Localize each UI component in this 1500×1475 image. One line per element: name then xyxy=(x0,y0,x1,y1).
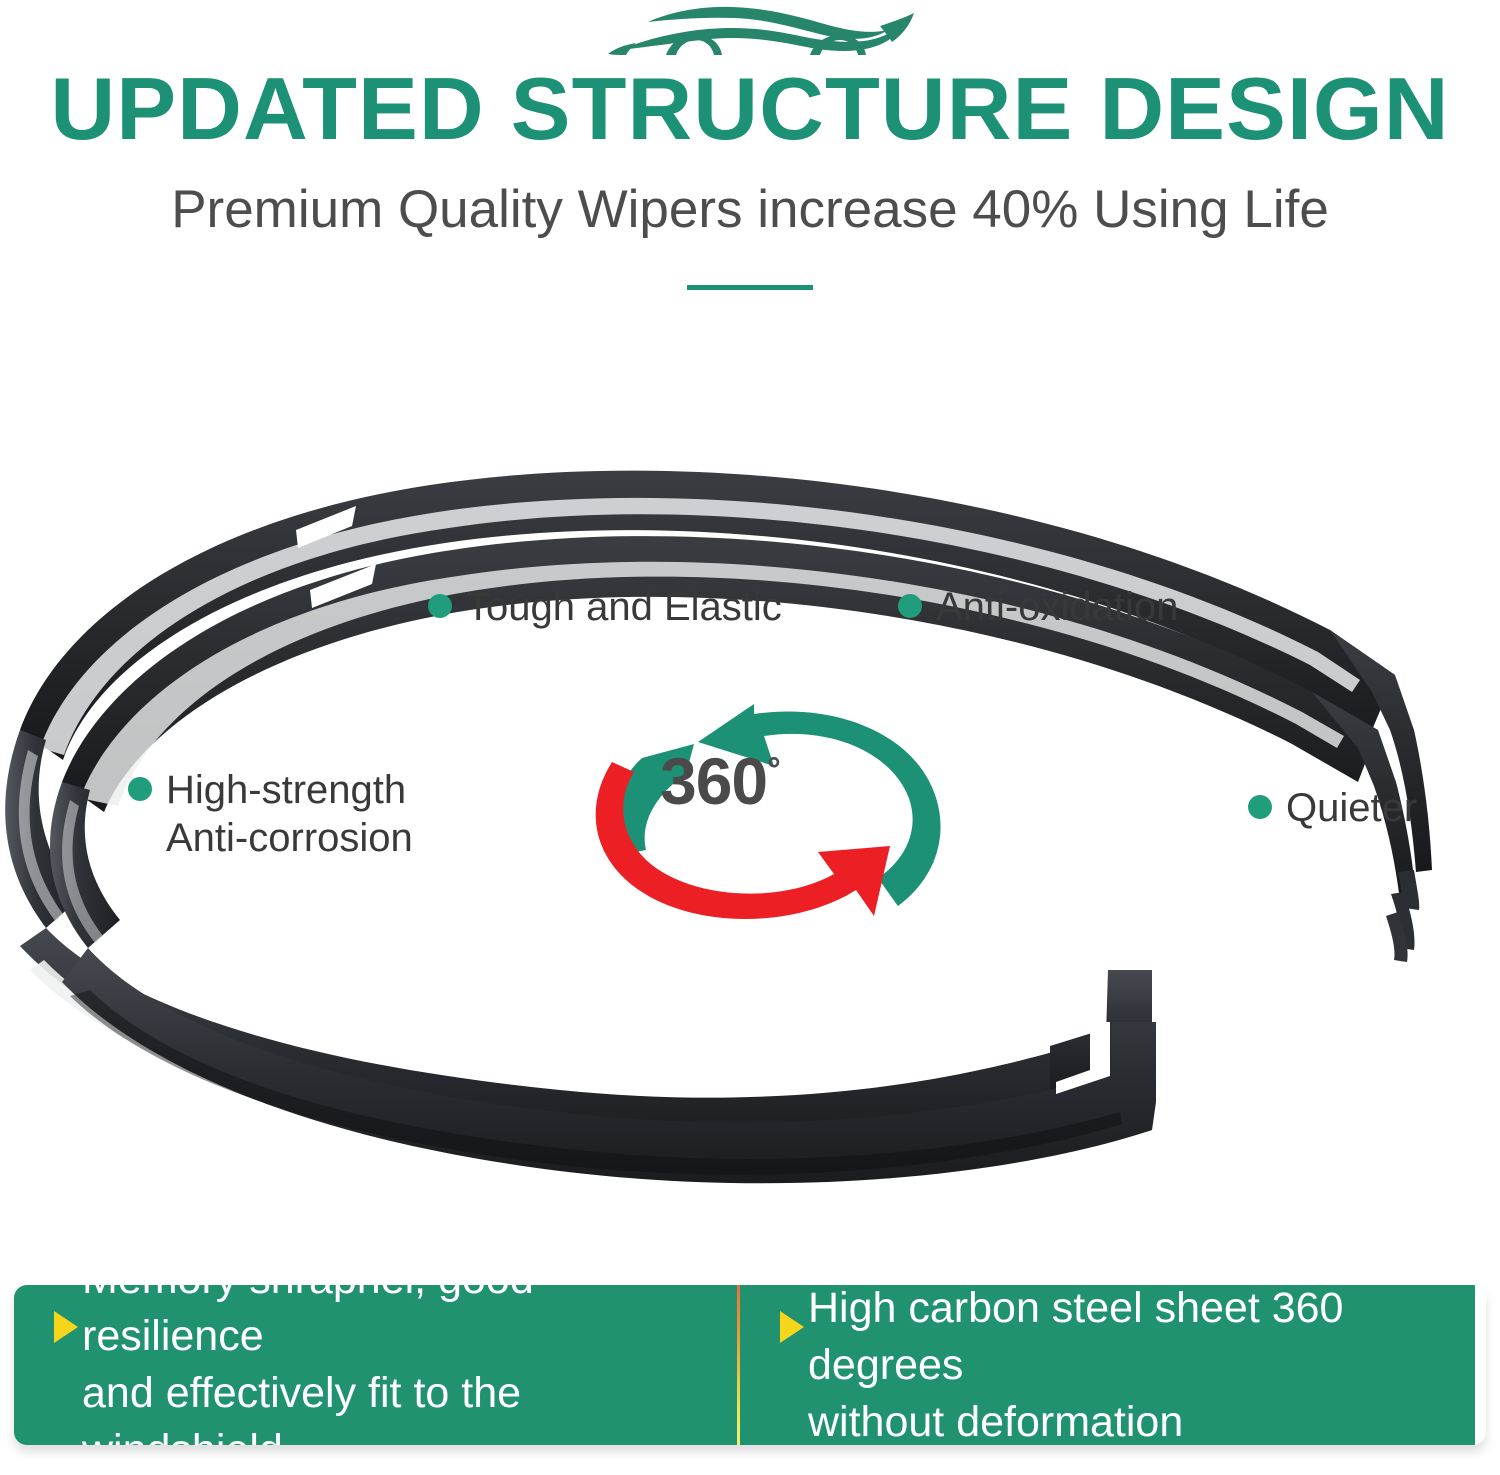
bottom-banner-row: Memory shrapnel, good resilience and eff… xyxy=(14,1285,1486,1445)
feature-label-text: Tough and Elastic xyxy=(466,583,782,631)
banner-memory-shrapnel: Memory shrapnel, good resilience and eff… xyxy=(14,1285,737,1445)
triangle-bullet-icon xyxy=(54,1311,78,1343)
bullet-icon xyxy=(1248,795,1272,819)
title-divider xyxy=(687,285,813,290)
banner-text-line2: and effectively fit to the windshield xyxy=(82,1365,711,1445)
triangle-bullet-icon xyxy=(780,1311,804,1343)
banner-text-line2: without deformation xyxy=(808,1394,1449,1446)
feature-label-tough-and-elastic: Tough and Elastic xyxy=(428,583,782,631)
banner-high-carbon-steel: High carbon steel sheet 360 degrees with… xyxy=(740,1285,1475,1445)
banner-text-line1: Memory shrapnel, good resilience xyxy=(82,1285,711,1365)
bullet-icon xyxy=(428,594,452,618)
banner-text-line1: High carbon steel sheet 360 degrees xyxy=(808,1285,1449,1394)
feature-label-quieter: Quieter xyxy=(1248,784,1417,832)
feature-label-high-strength-anti-corrosion: High-strength Anti-corrosion xyxy=(128,766,413,862)
page-title: UPDATED STRUCTURE DESIGN xyxy=(0,62,1500,156)
infographic-page: UPDATED STRUCTURE DESIGN Premium Quality… xyxy=(0,0,1500,1475)
rotation-360-badge-icon xyxy=(578,700,958,930)
feature-label-text-line1: High-strength xyxy=(166,766,413,814)
bullet-icon xyxy=(898,594,922,618)
degree-symbol: ° xyxy=(767,751,780,789)
page-subtitle: Premium Quality Wipers increase 40% Usin… xyxy=(0,178,1500,242)
feature-label-anti-oxidation: Anti-oxidation xyxy=(898,583,1178,631)
feature-label-text: Quieter xyxy=(1286,784,1417,832)
bullet-icon xyxy=(128,777,152,801)
badge-value: 360 xyxy=(660,744,767,818)
feature-label-text: Anti-oxidation xyxy=(936,583,1178,631)
feature-label-text-line2: Anti-corrosion xyxy=(166,814,413,862)
car-silhouette-icon xyxy=(604,2,916,64)
rotation-360-badge-label: 360° xyxy=(660,748,780,814)
